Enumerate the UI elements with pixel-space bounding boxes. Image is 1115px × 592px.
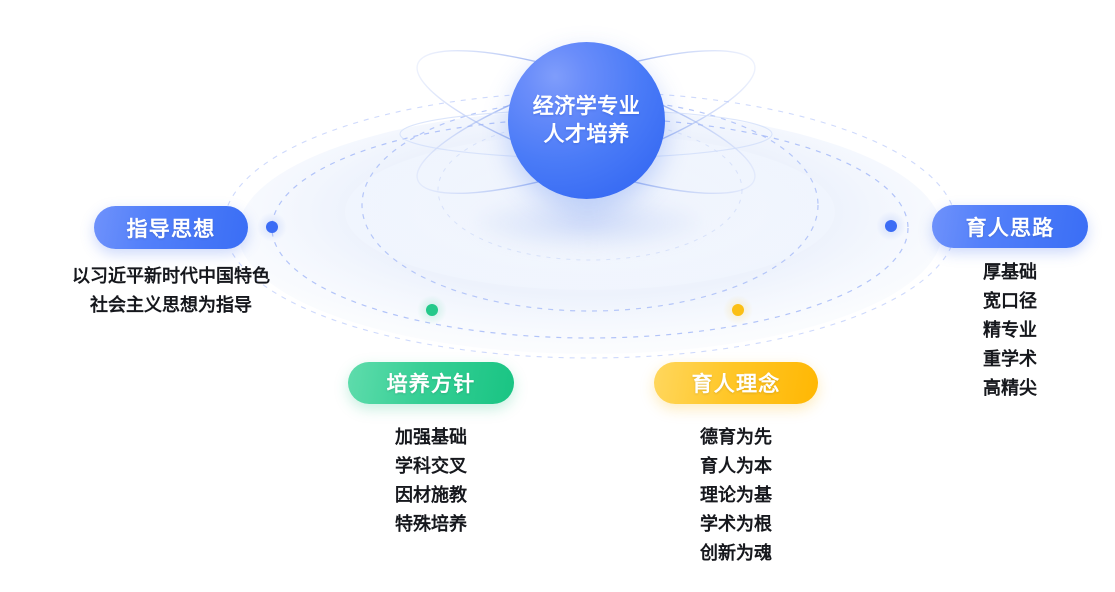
text-line: 以习近平新时代中国特色 [34, 262, 308, 291]
text-line: 理论为基 [654, 481, 818, 510]
orbit-dot-education-philosophy[interactable] [732, 304, 744, 316]
orbit-dot-halo [723, 295, 753, 325]
text-line: 精专业 [928, 316, 1092, 345]
text-line: 高精尖 [928, 374, 1092, 403]
orbit-dot-education-approach[interactable] [885, 220, 897, 232]
center-sphere-label: 经济学专业人才培养 [531, 93, 643, 148]
text-line: 学术为根 [654, 510, 818, 539]
text-line: 社会主义思想为指导 [34, 291, 308, 320]
text-line: 重学术 [928, 345, 1092, 374]
center-sphere: 经济学专业人才培养 [508, 42, 665, 199]
pill-guiding-ideology[interactable]: 指导思想 [94, 206, 248, 249]
text-block-education-approach: 厚基础宽口径精专业重学术高精尖 [928, 258, 1092, 403]
text-line: 特殊培养 [348, 510, 514, 539]
sphere-ground-shadow [476, 196, 700, 250]
text-block-guiding-ideology: 以习近平新时代中国特色社会主义思想为指导 [34, 262, 308, 320]
pill-label: 育人理念 [692, 368, 781, 398]
pill-training-policy[interactable]: 培养方针 [348, 362, 514, 404]
pill-education-philosophy[interactable]: 育人理念 [654, 362, 818, 404]
text-block-education-philosophy: 德育为先育人为本理论为基学术为根创新为魂 [654, 423, 818, 568]
text-block-training-policy: 加强基础学科交叉因材施教特殊培养 [348, 423, 514, 539]
pill-label: 指导思想 [127, 213, 216, 243]
pill-label: 培养方针 [387, 368, 476, 398]
orbit-dot-training-policy[interactable] [426, 304, 438, 316]
pill-label: 育人思路 [966, 212, 1055, 242]
text-line: 厚基础 [928, 258, 1092, 287]
text-line: 德育为先 [654, 423, 818, 452]
pill-education-approach[interactable]: 育人思路 [932, 205, 1088, 248]
diagram-canvas: 经济学专业人才培养 指导思想 育人思路 培养方针 育人理念 以习近平新时代中国特… [0, 0, 1115, 592]
text-line: 加强基础 [348, 423, 514, 452]
orbit-dot-halo [257, 212, 287, 242]
orbit-dot-halo [876, 211, 906, 241]
orbit-dot-guiding-ideology[interactable] [266, 221, 278, 233]
text-line: 宽口径 [928, 287, 1092, 316]
orbit-dot-halo [417, 295, 447, 325]
text-line: 育人为本 [654, 452, 818, 481]
text-line: 学科交叉 [348, 452, 514, 481]
text-line: 创新为魂 [654, 539, 818, 568]
text-line: 因材施教 [348, 481, 514, 510]
